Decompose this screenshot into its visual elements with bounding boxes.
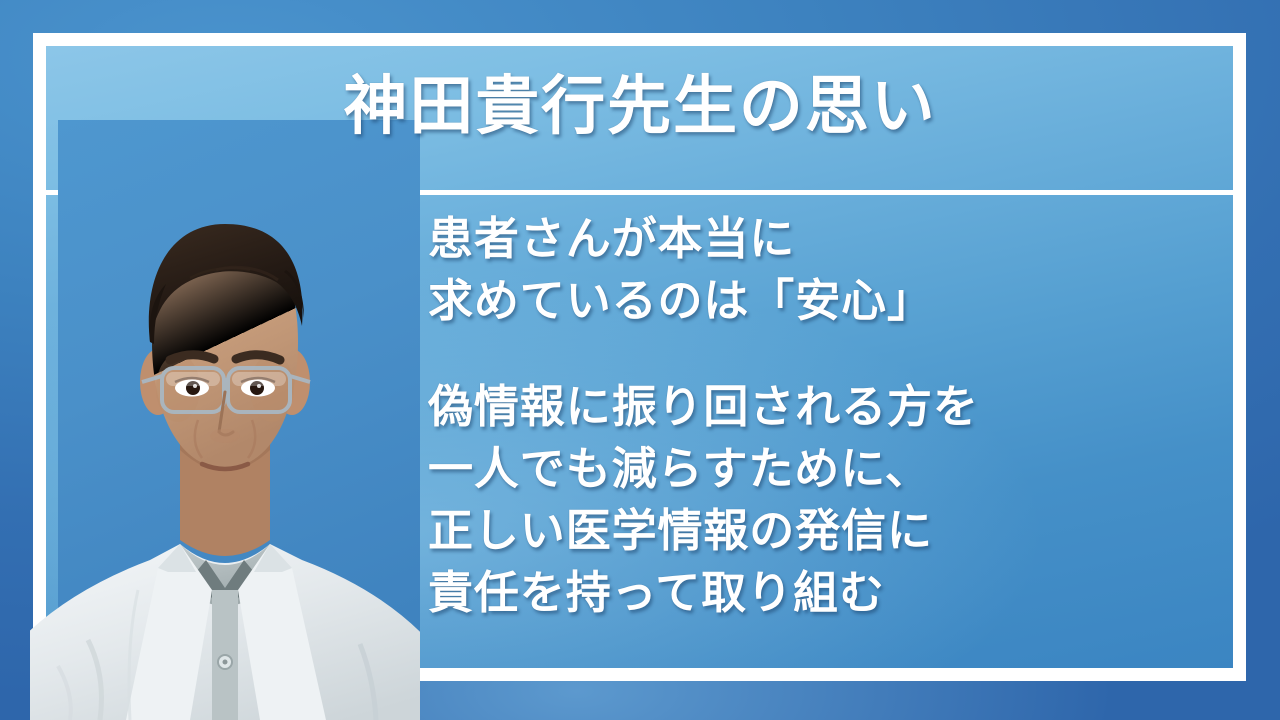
body-line: 患者さんが本当に [428,208,1218,270]
body-line: 一人でも減らすために、 [428,438,1218,500]
body-line: 責任を持って取り組む [428,562,1218,624]
body-line: 正しい医学情報の発信に [428,500,1218,562]
paragraph-sekinin: 偽情報に振り回される方を 一人でも減らすために、 正しい医学情報の発信に 責任を… [428,376,1218,624]
slide-body: 患者さんが本当に 求めているのは「安心」 偽情報に振り回される方を 一人でも減ら… [428,208,1218,625]
portrait-photo [30,120,420,720]
body-line: 偽情報に振り回される方を [428,376,1218,438]
body-line: 求めているのは「安心」 [428,270,1218,332]
paragraph-anshin: 患者さんが本当に 求めているのは「安心」 [428,208,1218,332]
slide-root: 神田貴行先生の思い 患者さんが本当に 求めているのは「安心」 偽情報に振り回され… [0,0,1280,720]
slide-title: 神田貴行先生の思い [0,74,1233,141]
